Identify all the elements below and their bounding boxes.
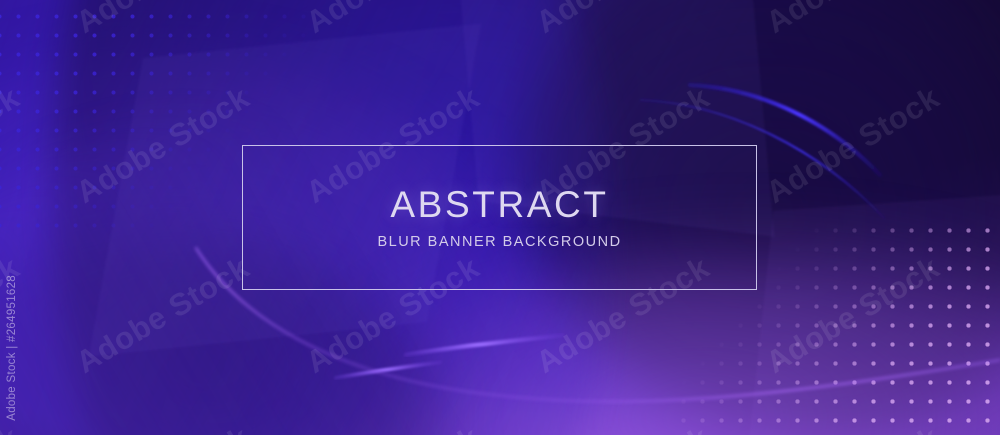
abstract-banner-image: Adobe Stock Adobe Stock Adobe Stock Adob… bbox=[0, 0, 1000, 435]
arc-violet-upper-bottom bbox=[406, 335, 562, 355]
page-subtitle: BLUR BANNER BACKGROUND bbox=[377, 235, 621, 250]
text-frame-border: ABSTRACT BLUR BANNER BACKGROUND bbox=[242, 145, 757, 290]
stock-credit-label: Adobe Stock | #264951628 bbox=[6, 275, 18, 421]
page-title: ABSTRACT bbox=[390, 186, 608, 223]
